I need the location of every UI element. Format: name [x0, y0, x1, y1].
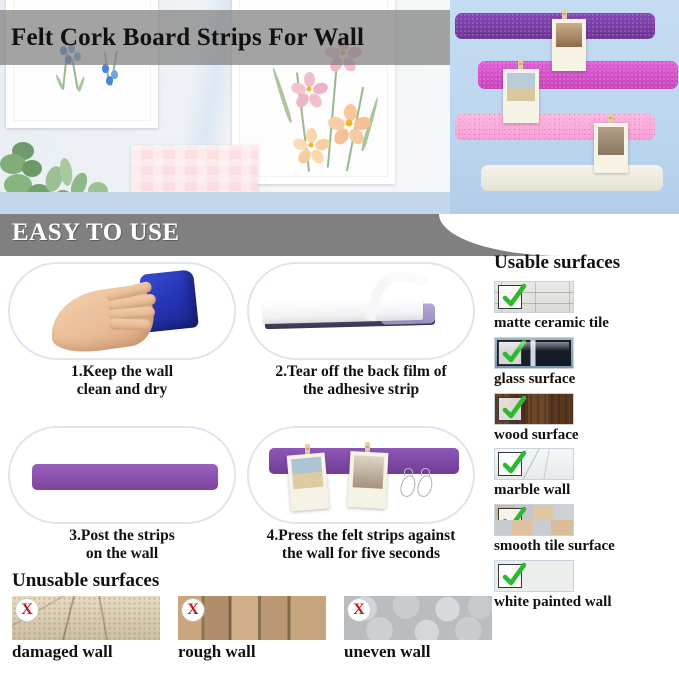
usable-label: white painted wall: [494, 593, 679, 612]
step-2-illustration: [247, 262, 475, 360]
step-1-caption: 1.Keep the wall clean and dry: [8, 363, 236, 400]
checkbox: [498, 452, 522, 476]
usable-item-smooth-tile-surface: smooth tile surface: [494, 504, 679, 556]
swatch-matte-ceramic-tile: [494, 281, 574, 313]
check-icon: [498, 393, 528, 423]
swatch-white-painted-wall: [494, 560, 574, 592]
caption-line: the wall for five seconds: [247, 545, 475, 563]
check-icon: [498, 560, 528, 590]
caption-line: 1.Keep the wall: [8, 363, 236, 381]
photo-image: [556, 23, 582, 47]
checkbox: [498, 397, 522, 421]
checkbox: [498, 508, 522, 532]
step-3-illustration: [8, 426, 236, 524]
earring: [415, 473, 435, 498]
hero-strip-cream: [481, 165, 663, 191]
usable-label: matte ceramic tile: [494, 314, 679, 333]
unusable-label: rough wall: [178, 642, 326, 662]
photo-image: [291, 457, 324, 490]
swatch-glass-surface: [494, 337, 574, 369]
usable-label: marble wall: [494, 481, 679, 500]
step-2: 2.Tear off the back film of the adhesive…: [247, 262, 475, 400]
hero-photo-3: [594, 123, 628, 173]
unusable-label: uneven wall: [344, 642, 492, 662]
page-title: Felt Cork Board Strips For Wall: [0, 24, 364, 52]
hero-lifestyle-image: Felt Cork Board Strips For Wall: [0, 0, 679, 214]
unusable-item-rough-wall: X rough wall: [178, 596, 326, 662]
easy-to-use-heading: EASY TO USE: [12, 219, 180, 247]
purple-felt-strip: [32, 464, 218, 490]
unusable-surfaces-heading: Unusable surfaces: [12, 570, 492, 592]
swatch-marble-wall: [494, 448, 574, 480]
caption-line: on the wall: [8, 545, 236, 563]
earring: [398, 473, 418, 498]
steps-section: 1.Keep the wall clean and dry 2.Tear off…: [0, 258, 488, 566]
caption-line: 4.Press the felt strips against: [247, 527, 475, 545]
hanging-photo-portrait: [348, 451, 389, 509]
band-curve-decoration: [439, 214, 679, 256]
check-icon: [498, 448, 528, 478]
unusable-label: damaged wall: [12, 642, 160, 662]
check-icon: [498, 504, 528, 534]
x-mark-icon: X: [182, 599, 204, 621]
usable-surfaces-section: Usable surfaces matte ceramic tile gl: [494, 252, 679, 616]
unusable-surfaces-section: Unusable surfaces X damaged wall X rough…: [12, 570, 492, 662]
step-4: 4.Press the felt strips against the wall…: [247, 426, 475, 564]
usable-label: smooth tile surface: [494, 537, 679, 556]
usable-label: wood surface: [494, 426, 679, 445]
check-icon: [498, 337, 528, 367]
finger: [109, 318, 151, 330]
x-mark-icon: X: [348, 599, 370, 621]
product-infographic: Felt Cork Board Strips For Wall EASY TO …: [0, 0, 679, 678]
swatch-damaged-wall: X: [12, 596, 160, 640]
photo-image: [598, 127, 624, 155]
hero-photo-2: [503, 69, 539, 123]
photo-image: [353, 455, 385, 489]
usable-label: glass surface: [494, 370, 679, 389]
step-3-caption: 3.Post the strips on the wall: [8, 527, 236, 564]
swatch-rough-wall: X: [178, 596, 326, 640]
step-4-caption: 4.Press the felt strips against the wall…: [247, 527, 475, 564]
caption-line: 2.Tear off the back film of: [247, 363, 475, 381]
swatch-uneven-wall: X: [344, 596, 492, 640]
easy-to-use-band: EASY TO USE: [0, 214, 679, 256]
product-title-bar: Felt Cork Board Strips For Wall: [0, 10, 450, 65]
checkbox: [498, 341, 522, 365]
caption-line: clean and dry: [8, 381, 236, 399]
unusable-item-uneven-wall: X uneven wall: [344, 596, 492, 662]
caption-line: the adhesive strip: [247, 381, 475, 399]
checkbox: [498, 285, 522, 309]
step-1: 1.Keep the wall clean and dry: [8, 262, 236, 400]
x-mark-icon: X: [16, 599, 38, 621]
check-icon: [498, 281, 528, 311]
step-4-illustration: [247, 426, 475, 524]
hero-floor: [0, 192, 450, 214]
unusable-items-row: X damaged wall X rough wall X uneven wal…: [12, 596, 492, 662]
photo-image: [507, 73, 535, 101]
usable-item-wood-surface: wood surface: [494, 393, 679, 445]
usable-item-glass-surface: glass surface: [494, 337, 679, 389]
checkbox: [498, 564, 522, 588]
step-3: 3.Post the strips on the wall: [8, 426, 236, 564]
usable-item-matte-ceramic-tile: matte ceramic tile: [494, 281, 679, 333]
unusable-item-damaged-wall: X damaged wall: [12, 596, 160, 662]
step-2-caption: 2.Tear off the back film of the adhesive…: [247, 363, 475, 400]
swatch-wood-surface: [494, 393, 574, 425]
caption-line: 3.Post the strips: [8, 527, 236, 545]
swatch-smooth-tile-surface: [494, 504, 574, 536]
usable-item-marble-wall: marble wall: [494, 448, 679, 500]
hanging-photo-beach: [287, 452, 330, 511]
hero-photo-1: [552, 19, 586, 71]
step-1-illustration: [8, 262, 236, 360]
usable-item-white-painted-wall: white painted wall: [494, 560, 679, 612]
usable-surfaces-heading: Usable surfaces: [494, 252, 679, 274]
